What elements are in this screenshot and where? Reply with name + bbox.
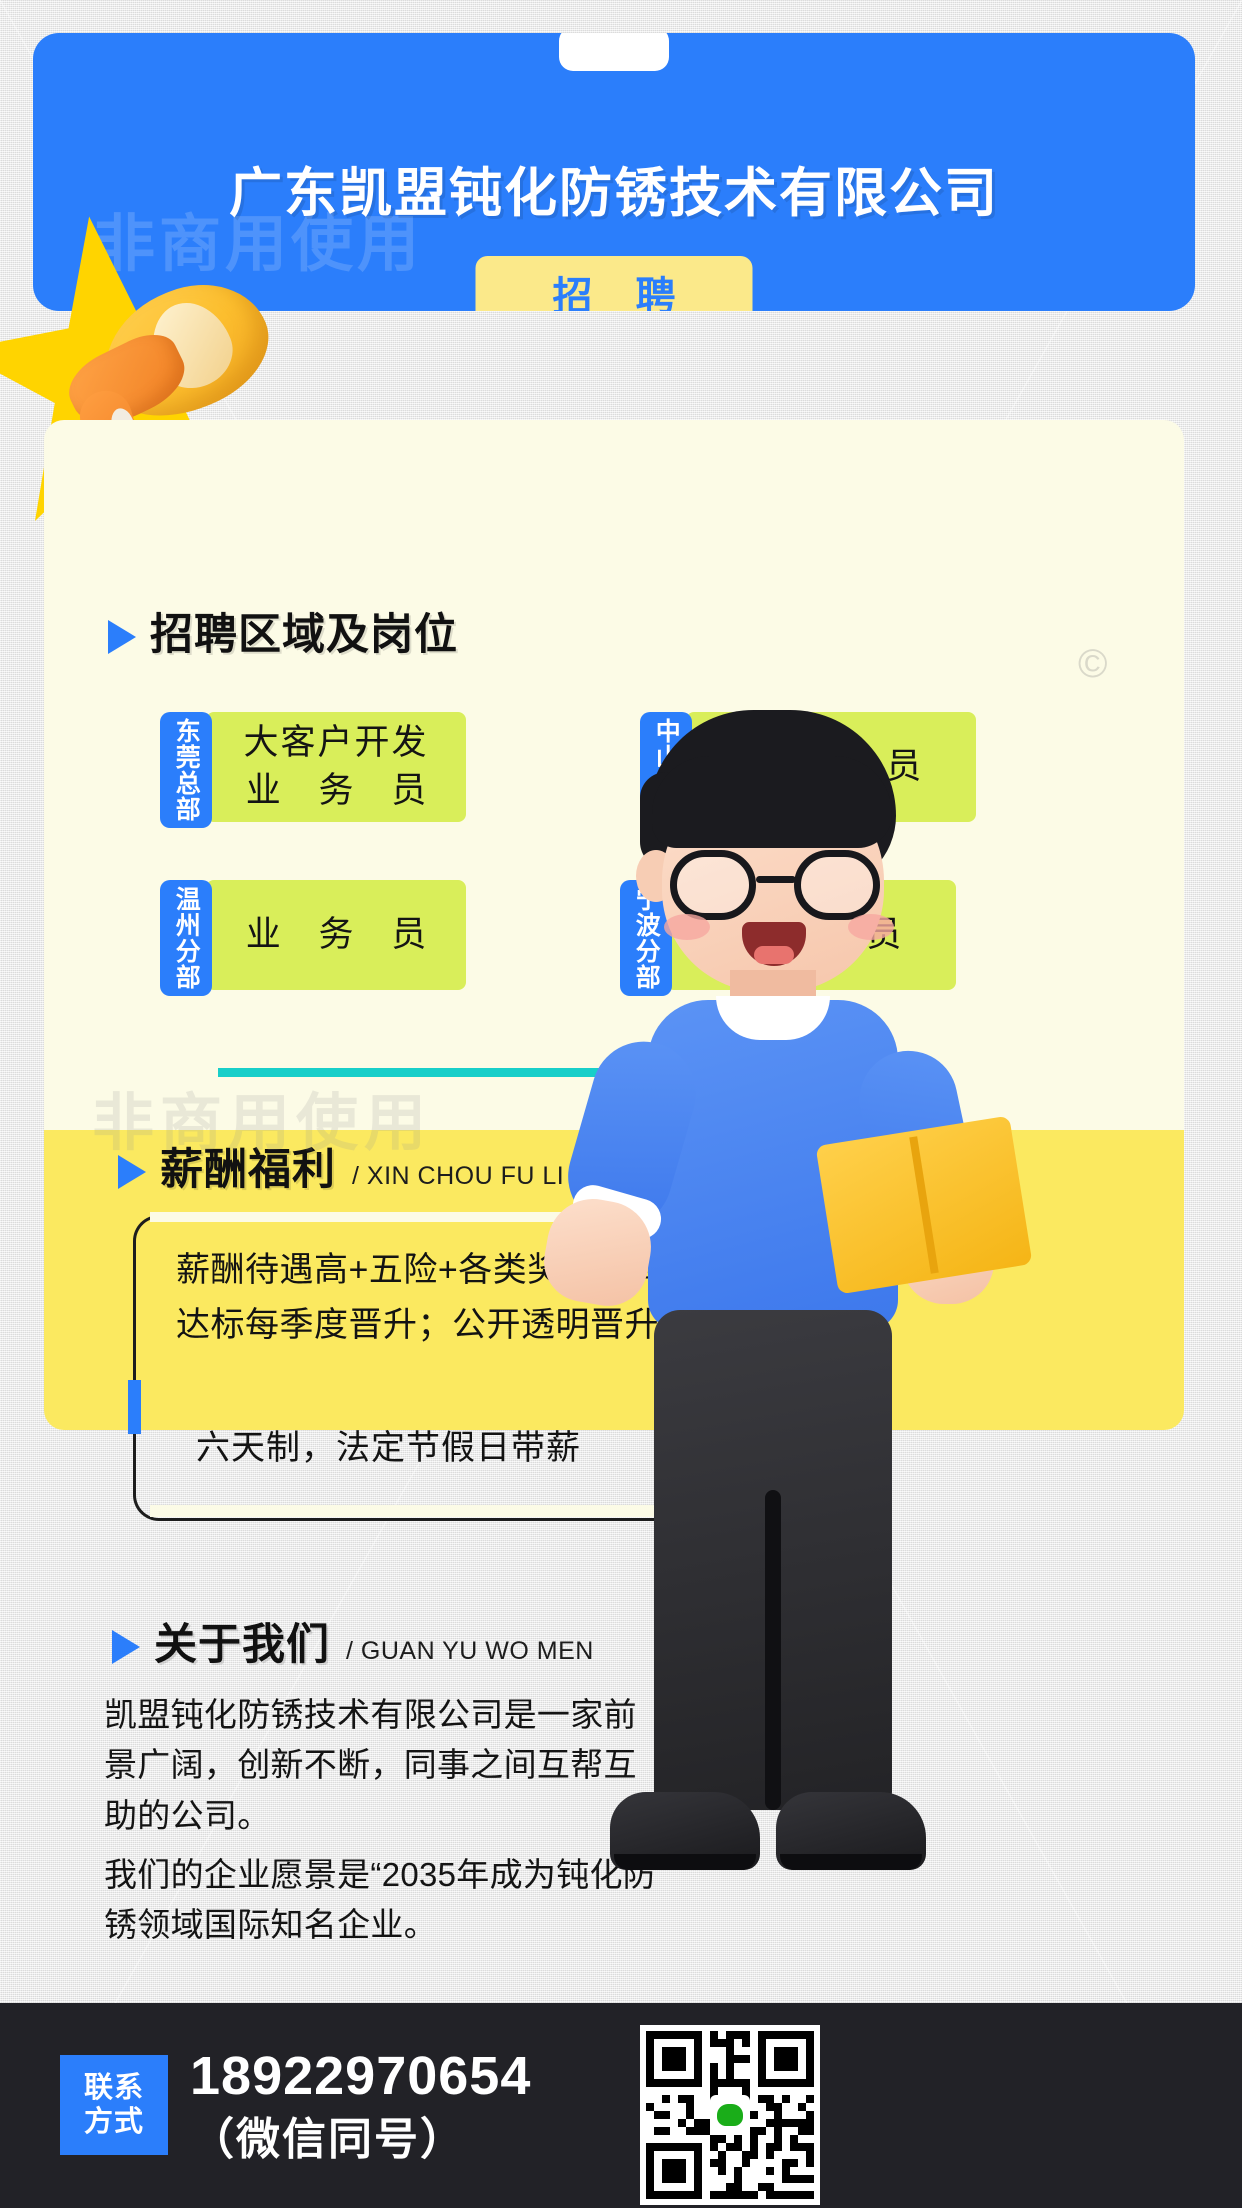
positions-heading-label: 招聘区域及岗位 xyxy=(150,600,458,662)
position-roles: 大客户开发 业 务 员 xyxy=(206,712,466,822)
position-role-line1: 大客户开发 xyxy=(243,719,428,767)
about-heading-label: 关于我们 xyxy=(154,1610,330,1672)
triangle-bullet-icon xyxy=(108,620,136,654)
triangle-bullet-icon xyxy=(118,1155,146,1189)
position-role-line2: 业 务 员 xyxy=(232,767,440,815)
salary-heading-label: 薪酬福利 xyxy=(160,1135,336,1197)
position-role-line1: 业 务 员 xyxy=(232,911,440,959)
position-region-tag: 东莞总部 xyxy=(160,712,212,828)
wechat-logo-icon xyxy=(710,2095,750,2135)
glasses-icon xyxy=(668,850,882,920)
qr-code[interactable] xyxy=(640,2025,820,2205)
salary-heading-pinyin: / XIN CHOU FU LI xyxy=(352,1162,564,1191)
phone-number[interactable]: 18922970654 xyxy=(190,2045,531,2107)
person-illustration xyxy=(590,700,960,2020)
wechat-note: （微信同号） xyxy=(190,2103,466,2167)
contact-label-box: 联系 方式 xyxy=(60,2055,168,2155)
book-icon xyxy=(815,1116,1032,1295)
blue-tick-marker xyxy=(128,1380,141,1434)
clipboard-clip-icon xyxy=(559,33,669,71)
about-paragraph-2: 我们的企业愿景是“2035年成为钝化防锈领域国际知名企业。 xyxy=(104,1850,664,1951)
triangle-bullet-icon xyxy=(112,1630,140,1664)
recruit-badge: 招 聘 xyxy=(476,256,753,311)
position-card-wenzhou[interactable]: 温州分部 业 务 员 xyxy=(160,880,466,996)
position-card-dongguan[interactable]: 东莞总部 大客户开发 业 务 员 xyxy=(160,712,466,828)
positions-heading: 招聘区域及岗位 xyxy=(108,600,458,662)
page-title: 广东凯盟钝化防锈技术有限公司 xyxy=(33,151,1195,227)
about-heading: 关于我们 / GUAN YU WO MEN xyxy=(112,1610,594,1672)
contact-label-line2: 方式 xyxy=(84,2105,144,2139)
contact-label-line1: 联系 xyxy=(84,2071,144,2105)
about-paragraph-1: 凯盟钝化防锈技术有限公司是一家前景广阔，创新不断，同事之间互帮互助的公司。 xyxy=(104,1690,664,1841)
contact-footer: 联系 方式 18922970654 （微信同号） xyxy=(0,2003,1242,2208)
position-roles: 业 务 员 xyxy=(206,880,466,990)
header-card: 非商用使用 广东凯盟钝化防锈技术有限公司 招 聘 xyxy=(33,33,1195,311)
position-region-tag: 温州分部 xyxy=(160,880,212,996)
about-heading-pinyin: / GUAN YU WO MEN xyxy=(346,1637,594,1666)
